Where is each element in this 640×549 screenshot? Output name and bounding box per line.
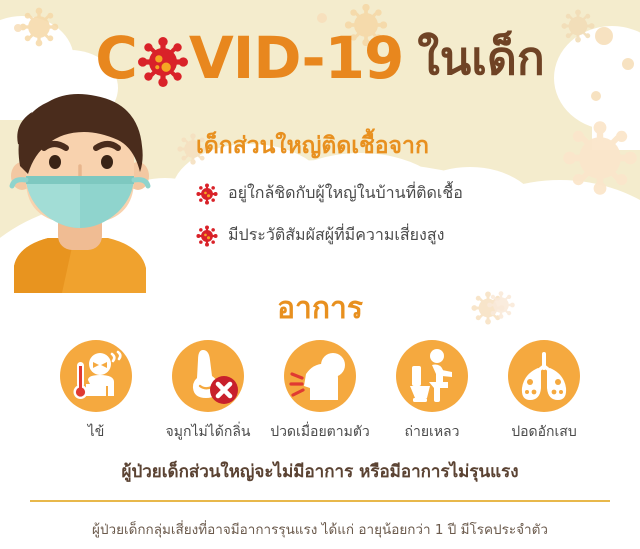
diarrhea-icon <box>396 340 468 412</box>
list-item-label: มีประวัติสัมผัสผู้ที่มีความเสี่ยงสูง <box>228 223 444 248</box>
seated-person <box>429 349 452 402</box>
symptom-icon-circle <box>60 340 132 412</box>
symptoms-heading: อาการ <box>0 285 640 332</box>
title-text-part2: VID-19 <box>189 29 403 87</box>
pneumonia-icon <box>508 340 580 412</box>
symptom-icon-circle <box>284 340 356 412</box>
symptom-label: ปวดเมื่อยตามตัว <box>264 421 376 443</box>
eye-left <box>49 155 61 169</box>
body-ache-icon <box>284 340 356 412</box>
symptom-item-no-smell: จมูกไม่ได้กลิ่น <box>152 340 264 443</box>
symptom-icon-circle <box>172 340 244 412</box>
symptoms-list: ไข้ จมูกไม่ได้กลิ่น ปวดเม <box>0 340 640 445</box>
symptom-label: จมูกไม่ได้กลิ่น <box>152 421 264 443</box>
boy-wearing-mask-illustration <box>0 88 166 293</box>
note-secondary: ผู้ป่วยเด็กกลุ่มเสี่ยงที่อาจมีอาการรุนแร… <box>0 518 640 540</box>
title-text-part1: C <box>95 29 137 87</box>
fever-icon <box>60 340 132 412</box>
poster-title: C VI <box>0 18 640 98</box>
infected-from-heading: เด็กส่วนใหญ่ติดเชื้อจาก <box>196 128 626 164</box>
symptom-item-fever: ไข้ <box>40 340 152 443</box>
symptom-label: ปอดอักเสบ <box>488 421 600 443</box>
virus-bullet-icon <box>196 183 218 205</box>
torso <box>304 364 338 400</box>
list-item-label: อยู่ใกล้ชิดกับผู้ใหญ่ในบ้านที่ติดเชื้อ <box>228 181 463 206</box>
no-smell-icon <box>172 340 244 412</box>
infographic-poster: C VI <box>0 0 640 549</box>
symptom-label: ไข้ <box>40 421 152 443</box>
divider <box>30 500 610 502</box>
symptom-label: ถ่ายเหลว <box>376 421 488 443</box>
virus-bullet-icon <box>196 225 218 247</box>
title-text-thai: ในเด็ก <box>417 35 544 81</box>
thermometer <box>74 362 88 399</box>
toilet <box>410 366 430 402</box>
list-item: มีประวัติสัมผัสผู้ที่มีความเสี่ยงสูง <box>196 223 626 248</box>
infected-from-section: เด็กส่วนใหญ่ติดเชื้อจาก อยู่ใกล้ชิดกับผู… <box>196 128 626 248</box>
symptom-item-pneumonia: ปอดอักเสบ <box>488 340 600 443</box>
virus-icon <box>137 29 189 87</box>
symptom-icon-circle <box>396 340 468 412</box>
eye-right <box>101 155 113 169</box>
symptom-icon-circle <box>508 340 580 412</box>
list-item: อยู่ใกล้ชิดกับผู้ใหญ่ในบ้านที่ติดเชื้อ <box>196 181 626 206</box>
symptom-item-diarrhea: ถ่ายเหลว <box>376 340 488 443</box>
symptom-item-body-ache: ปวดเมื่อยตามตัว <box>264 340 376 443</box>
pain-lines <box>291 374 303 395</box>
note-primary: ผู้ป่วยเด็กส่วนใหญ่จะไม่มีอาการ หรือมีอา… <box>0 458 640 485</box>
